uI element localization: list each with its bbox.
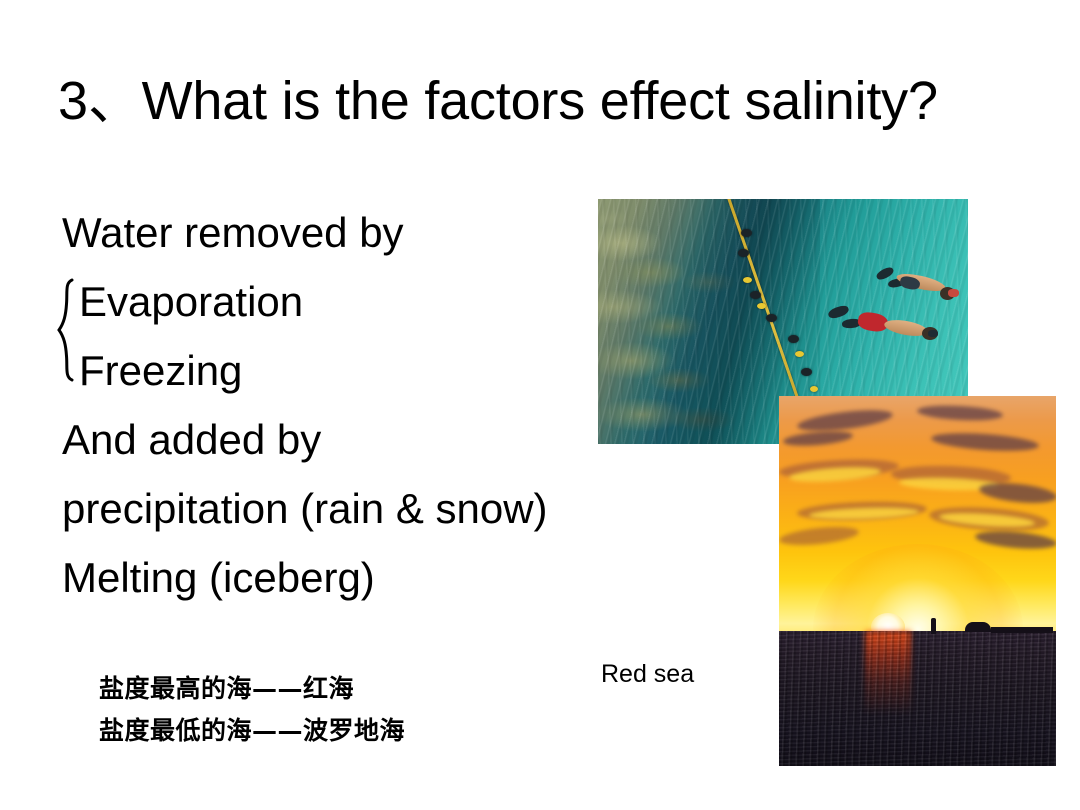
rope-buoy [750, 291, 761, 299]
rope-buoy [795, 351, 804, 357]
water-ripple-texture [779, 631, 1056, 766]
body-line-melting: Melting (iceberg) [62, 543, 662, 612]
page-title: 3、What is the factors effect salinity? [58, 70, 1048, 132]
chinese-notes-block: 盐度最高的海——红海 盐度最低的海——波罗地海 [99, 668, 599, 752]
rope-buoy [766, 314, 777, 322]
horizon-silhouette [931, 618, 936, 634]
body-line-precipitation: precipitation (rain & snow) [62, 474, 662, 543]
ocean-sunset-photo [779, 396, 1056, 766]
snorkel-mask [928, 330, 938, 337]
chinese-note-highest-salinity: 盐度最高的海——红海 [99, 668, 599, 710]
body-line-evaporation: Evaporation [62, 267, 662, 336]
body-line-freezing: Freezing [62, 336, 662, 405]
rope-buoy [741, 229, 752, 237]
rope-buoy [738, 249, 749, 257]
body-line-water-removed: Water removed by [62, 198, 662, 267]
sunset-water [779, 631, 1056, 766]
rope-buoy [743, 277, 752, 283]
body-text-block: Water removed by Evaporation Freezing An… [62, 198, 662, 612]
horizon-silhouette [991, 627, 1053, 633]
swim-fin [827, 304, 850, 321]
rope-buoy [801, 368, 812, 376]
slide-canvas: 3、What is the factors effect salinity? W… [0, 0, 1080, 810]
chinese-note-lowest-salinity: 盐度最低的海——波罗地海 [99, 710, 599, 752]
caption-red-sea: Red sea [601, 659, 694, 689]
body-line-and-added-by: And added by [62, 405, 662, 474]
snorkeler-lower [828, 303, 946, 355]
rope-buoy [810, 386, 818, 392]
snorkel-mask [948, 289, 959, 297]
rope-buoy [788, 335, 799, 343]
horizon-silhouette [965, 622, 991, 632]
rope-buoy [757, 303, 766, 309]
